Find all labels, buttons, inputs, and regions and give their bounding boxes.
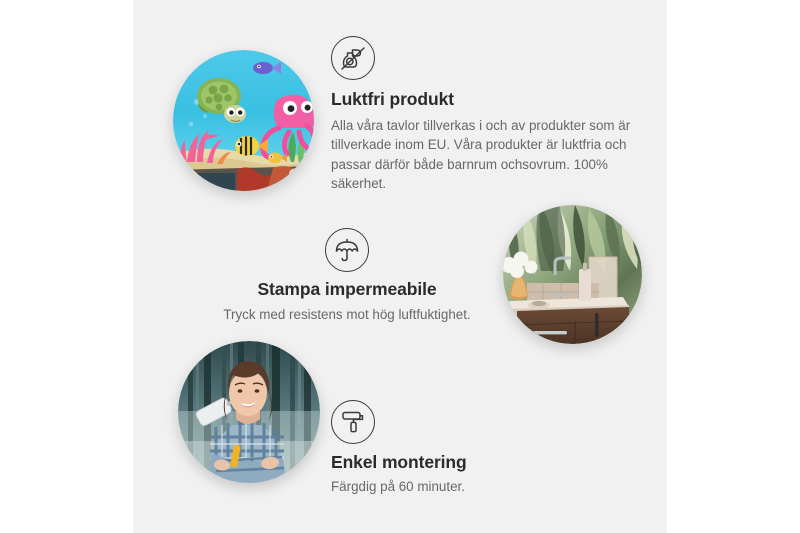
feature-title: Enkel montering bbox=[331, 452, 601, 474]
spray-bottle-no-odour-icon bbox=[331, 36, 375, 80]
feature-description: Alla våra tavlor tillverkas i och av pro… bbox=[331, 116, 631, 194]
bathroom-tropical-wallpaper-photo bbox=[503, 205, 642, 344]
underwater-cartoon-photo bbox=[173, 50, 314, 191]
feature-waterproof: Stampa impermeabile Tryck med resistens … bbox=[197, 228, 497, 324]
product-feature-banner: Luktfri produkt Alla våra tavlor tillver… bbox=[0, 0, 800, 533]
feature-description: Tryck med resistens mot hög luftfuktighe… bbox=[197, 305, 497, 324]
feature-easy-assembly: Enkel montering Färgdig på 60 minuter. bbox=[331, 400, 601, 496]
decorator-forest-wallpaper-photo bbox=[178, 341, 320, 483]
feature-title: Luktfri produkt bbox=[331, 89, 631, 111]
feature-title: Stampa impermeabile bbox=[197, 279, 497, 301]
feature-description: Färgdig på 60 minuter. bbox=[331, 477, 601, 496]
feature-odour-free: Luktfri produkt Alla våra tavlor tillver… bbox=[331, 36, 631, 194]
umbrella-icon bbox=[325, 228, 369, 272]
paint-roller-icon bbox=[331, 400, 375, 444]
